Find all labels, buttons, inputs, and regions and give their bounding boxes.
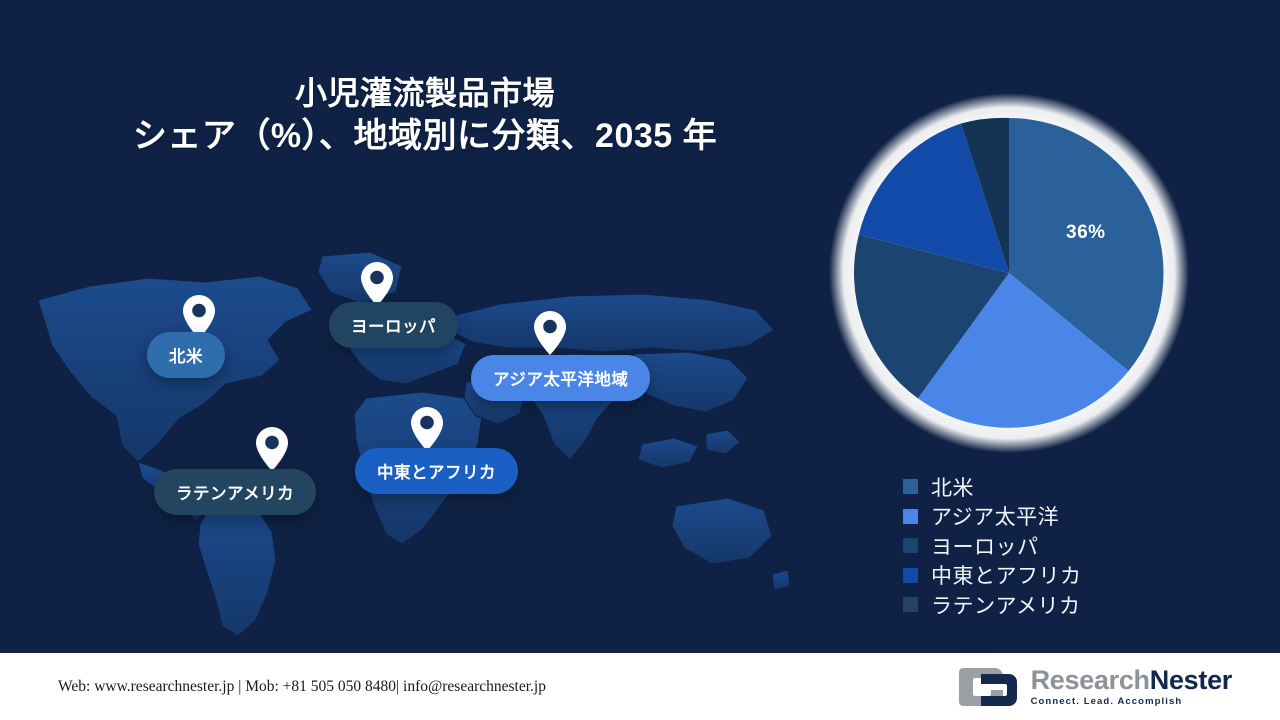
world-map: 北米 ヨーロッパ アジア太平洋地域 中東とアフリカ	[30, 248, 790, 638]
legend-item-latin-america[interactable]: ラテンアメリカ	[903, 590, 1243, 620]
map-pin-icon	[410, 406, 444, 452]
pie-chart: 36%	[810, 92, 1210, 462]
map-pill-latin-america[interactable]: ラテンアメリカ	[154, 469, 316, 515]
research-nester-logo-icon	[959, 664, 1021, 710]
legend-item-north-america[interactable]: 北米	[903, 472, 1243, 502]
brand-tagline: Connect. Lead. Accomplish	[1031, 697, 1232, 707]
legend-label: アジア太平洋	[931, 501, 1059, 531]
legend-label: ラテンアメリカ	[931, 590, 1080, 620]
map-pin-icon	[533, 310, 567, 356]
slide-canvas: 小児灌流製品市場 シェア（%）、地域別に分類、2035 年	[0, 0, 1280, 653]
legend-item-europe[interactable]: ヨーロッパ	[903, 531, 1243, 561]
map-pin-icon	[360, 261, 394, 307]
brand-word-nester: Nester	[1150, 665, 1232, 695]
footer-contact-text: Web: www.researchnester.jp | Mob: +81 50…	[58, 678, 546, 696]
map-pill-asia-pacific[interactable]: アジア太平洋地域	[471, 355, 650, 401]
pie-legend: 北米 アジア太平洋 ヨーロッパ 中東とアフリカ ラテンアメリカ	[903, 472, 1243, 620]
legend-swatch-icon	[903, 538, 918, 553]
pie-data-label-north-america: 36%	[1066, 222, 1106, 244]
brand-wordmark: ResearchNester Connect. Lead. Accomplish	[1031, 667, 1232, 707]
pie-chart-graphic	[810, 92, 1210, 462]
legend-swatch-icon	[903, 568, 918, 583]
footer-bar: Web: www.researchnester.jp | Mob: +81 50…	[0, 653, 1280, 720]
page-title: 小児灌流製品市場 シェア（%）、地域別に分類、2035 年	[40, 72, 810, 159]
page-title-line-1: 小児灌流製品市場	[40, 72, 810, 114]
brand-logo[interactable]: ResearchNester Connect. Lead. Accomplish	[959, 664, 1232, 710]
legend-swatch-icon	[903, 479, 918, 494]
map-pill-north-america[interactable]: 北米	[147, 332, 225, 378]
legend-label: 中東とアフリカ	[931, 560, 1082, 590]
legend-label: ヨーロッパ	[931, 531, 1039, 561]
map-pill-middle-east-africa[interactable]: 中東とアフリカ	[355, 448, 518, 494]
legend-swatch-icon	[903, 509, 918, 524]
map-pill-europe[interactable]: ヨーロッパ	[329, 302, 458, 348]
map-pin-icon	[255, 426, 289, 472]
page-title-line-2: シェア（%）、地域別に分類、2035 年	[40, 114, 810, 159]
legend-label: 北米	[931, 472, 974, 502]
legend-swatch-icon	[903, 597, 918, 612]
legend-item-asia-pacific[interactable]: アジア太平洋	[903, 502, 1243, 532]
legend-item-middle-east-africa[interactable]: 中東とアフリカ	[903, 561, 1243, 591]
brand-word-research: Research	[1031, 665, 1150, 695]
